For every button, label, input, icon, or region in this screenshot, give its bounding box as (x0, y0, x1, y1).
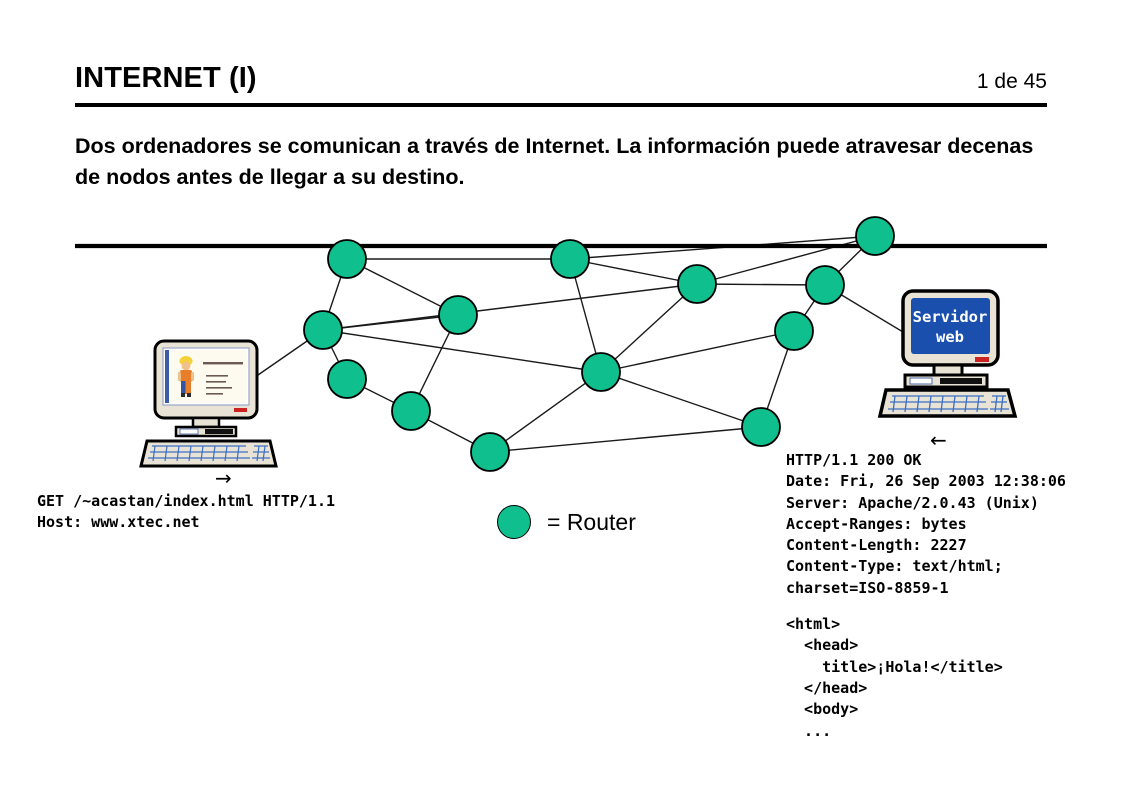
client-page-text (203, 362, 243, 395)
response-arrow-icon: ← (930, 430, 947, 450)
router-node (392, 392, 430, 430)
network-edge (411, 411, 490, 452)
client-power-led (234, 408, 247, 412)
network-edge (411, 315, 458, 411)
router-node (678, 265, 716, 303)
network-edge (570, 259, 601, 372)
network-edge (794, 285, 825, 331)
router-node (806, 266, 844, 304)
server-keyboard (880, 390, 1015, 416)
network-edge (347, 379, 411, 411)
network-edge (697, 236, 875, 284)
router-node (471, 433, 509, 471)
client-keyboard-keys (148, 446, 270, 461)
server-keyboard-keys (888, 396, 1009, 412)
header-divider (75, 103, 1047, 107)
network-edge (601, 284, 697, 372)
http-response-headers: HTTP/1.1 200 OK Date: Fri, 26 Sep 2003 1… (786, 450, 1066, 599)
slide-header: INTERNET (I) 1 de 45 (75, 62, 1047, 106)
server-monitor-stand (934, 365, 962, 375)
network-edge (323, 284, 697, 330)
network-edge (570, 236, 875, 259)
network-edges (323, 236, 875, 452)
router-node (439, 296, 477, 334)
http-response-block: HTTP/1.1 200 OK Date: Fri, 26 Sep 2003 1… (786, 450, 1066, 742)
client-monitor-case (155, 341, 257, 418)
network-edge (570, 259, 697, 284)
client-keyboard (141, 441, 276, 466)
http-request-text: GET /~acastan/index.html HTTP/1.1 Host: … (37, 491, 335, 534)
page-title: INTERNET (I) (75, 62, 257, 95)
page-number: 1 de 45 (977, 70, 1047, 94)
client-computer (141, 341, 276, 466)
client-monitor-stand (193, 418, 219, 427)
intro-paragraph: Dos ordenadores se comunican a través de… (75, 131, 1055, 193)
router-legend-label: = Router (547, 509, 636, 536)
network-edge (825, 236, 875, 285)
request-arrow-icon: → (215, 468, 232, 488)
client-page-bg (165, 350, 247, 403)
network-edge (490, 427, 761, 452)
network-edge (323, 315, 458, 330)
server-drive-bay (905, 375, 987, 387)
network-edge (323, 259, 347, 330)
router-node-icon (497, 505, 531, 539)
client-page-character (178, 356, 194, 397)
router-node (328, 240, 366, 278)
router-node (304, 311, 342, 349)
network-edge (761, 331, 794, 427)
server-screen-line2: web (936, 328, 964, 346)
server-screen (911, 298, 990, 354)
slide-canvas: INTERNET (I) 1 de 45 Dos ordenadores se … (0, 0, 1122, 793)
server-monitor-case (903, 291, 998, 365)
network-edge (347, 259, 458, 315)
network-edge (601, 331, 794, 372)
client-drive-bay (176, 427, 236, 436)
http-response-body: <html> <head> title>¡Hola!</title> </hea… (786, 614, 1066, 742)
router-node (551, 240, 589, 278)
router-node (742, 408, 780, 446)
router-node (856, 217, 894, 255)
network-edge (490, 372, 601, 452)
network-edge (697, 284, 825, 285)
network-edge (601, 372, 761, 427)
router-node (328, 360, 366, 398)
server-power-led (975, 357, 989, 362)
network-edge (323, 330, 601, 372)
server-screen-line1: Servidor (913, 308, 988, 326)
router-node (775, 312, 813, 350)
router-node (582, 353, 620, 391)
network-edge (323, 330, 347, 379)
router-legend: = Router (497, 505, 636, 539)
client-screen (163, 348, 249, 405)
server-link-line (825, 285, 908, 335)
client-link-line (258, 330, 323, 375)
client-page-sidebar (165, 350, 169, 403)
network-nodes (304, 217, 894, 471)
server-computer: Servidor web (880, 291, 1015, 416)
